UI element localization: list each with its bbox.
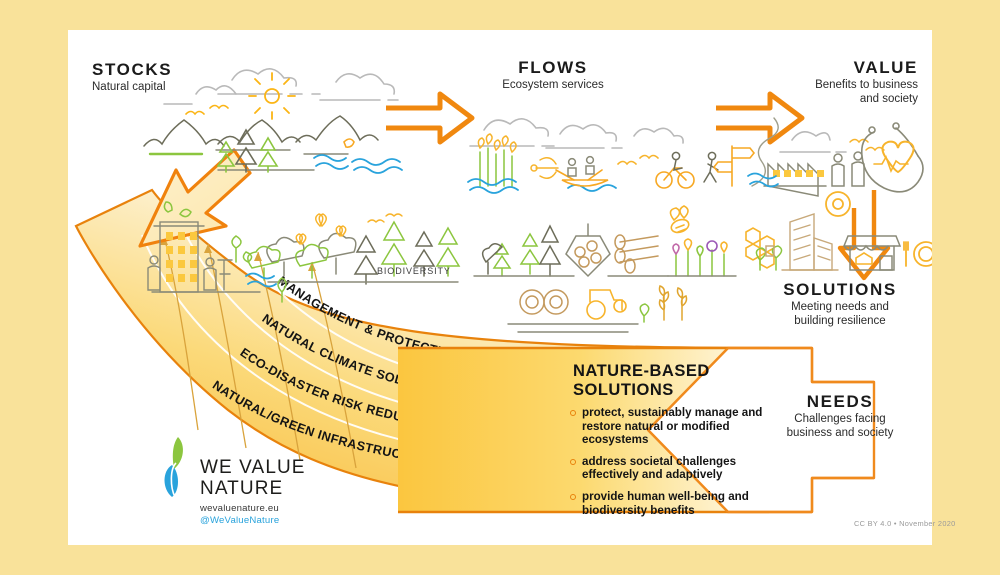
nbs-bullet-list: protect, sustainably manage and restore … <box>570 406 785 525</box>
section-solutions-heading: SOLUTIONS Meeting needs and building res… <box>748 280 932 328</box>
solutions-subtitle-1: Meeting needs and <box>748 301 932 315</box>
stocks-subtitle: Natural capital <box>92 81 172 95</box>
logo-twitter-handle[interactable]: @WeValueNature <box>200 515 279 526</box>
logo-mark-icon <box>158 435 192 501</box>
nbs-bullet-1: address societal challenges effectively … <box>570 455 785 482</box>
license-credit: CC BY 4.0 • November 2020 <box>854 519 956 528</box>
flow-arrow-1 <box>386 94 472 142</box>
section-value-heading: VALUE Benefits to business and society <box>718 58 918 106</box>
solutions-subtitle-2: building resilience <box>748 315 932 329</box>
nbs-title-line2: SOLUTIONS <box>573 381 674 399</box>
stocks-title: STOCKS <box>92 60 172 79</box>
nature-based-solutions-block: NATURE-BASED SOLUTIONS protect, sustaina… <box>498 348 798 538</box>
value-subtitle-1: Benefits to business <box>718 79 918 93</box>
logo-website[interactable]: wevaluenature.eu <box>200 503 279 514</box>
flows-subtitle: Ecosystem services <box>468 79 638 93</box>
nbs-title-line1: NATURE-BASED <box>573 362 710 380</box>
value-title: VALUE <box>718 58 918 77</box>
flows-illustration <box>468 118 778 332</box>
logo-line2: NATURE <box>200 478 283 499</box>
flows-title: FLOWS <box>468 58 638 77</box>
we-value-nature-logo: WE VALUE NATURE wevaluenature.eu @WeValu… <box>158 435 358 501</box>
logo-wordmark: WE VALUE NATURE <box>200 457 306 499</box>
value-subtitle-2: and society <box>718 93 918 107</box>
biodiversity-label: BIODIVERSITY <box>377 266 451 276</box>
nbs-bullet-0: protect, sustainably manage and restore … <box>570 406 785 447</box>
section-flows-heading: FLOWS Ecosystem services <box>468 58 638 93</box>
nbs-title: NATURE-BASED SOLUTIONS <box>573 362 778 400</box>
poster-canvas: MANAGEMENT & PROTECTION NATURAL CLIMATE … <box>0 0 1000 575</box>
nbs-bullet-2: provide human well-being and biodiversit… <box>570 490 785 517</box>
section-stocks-heading: STOCKS Natural capital <box>92 60 172 95</box>
white-panel: MANAGEMENT & PROTECTION NATURAL CLIMATE … <box>68 30 932 545</box>
solutions-title: SOLUTIONS <box>748 280 932 299</box>
logo-line1: WE VALUE <box>200 457 306 478</box>
